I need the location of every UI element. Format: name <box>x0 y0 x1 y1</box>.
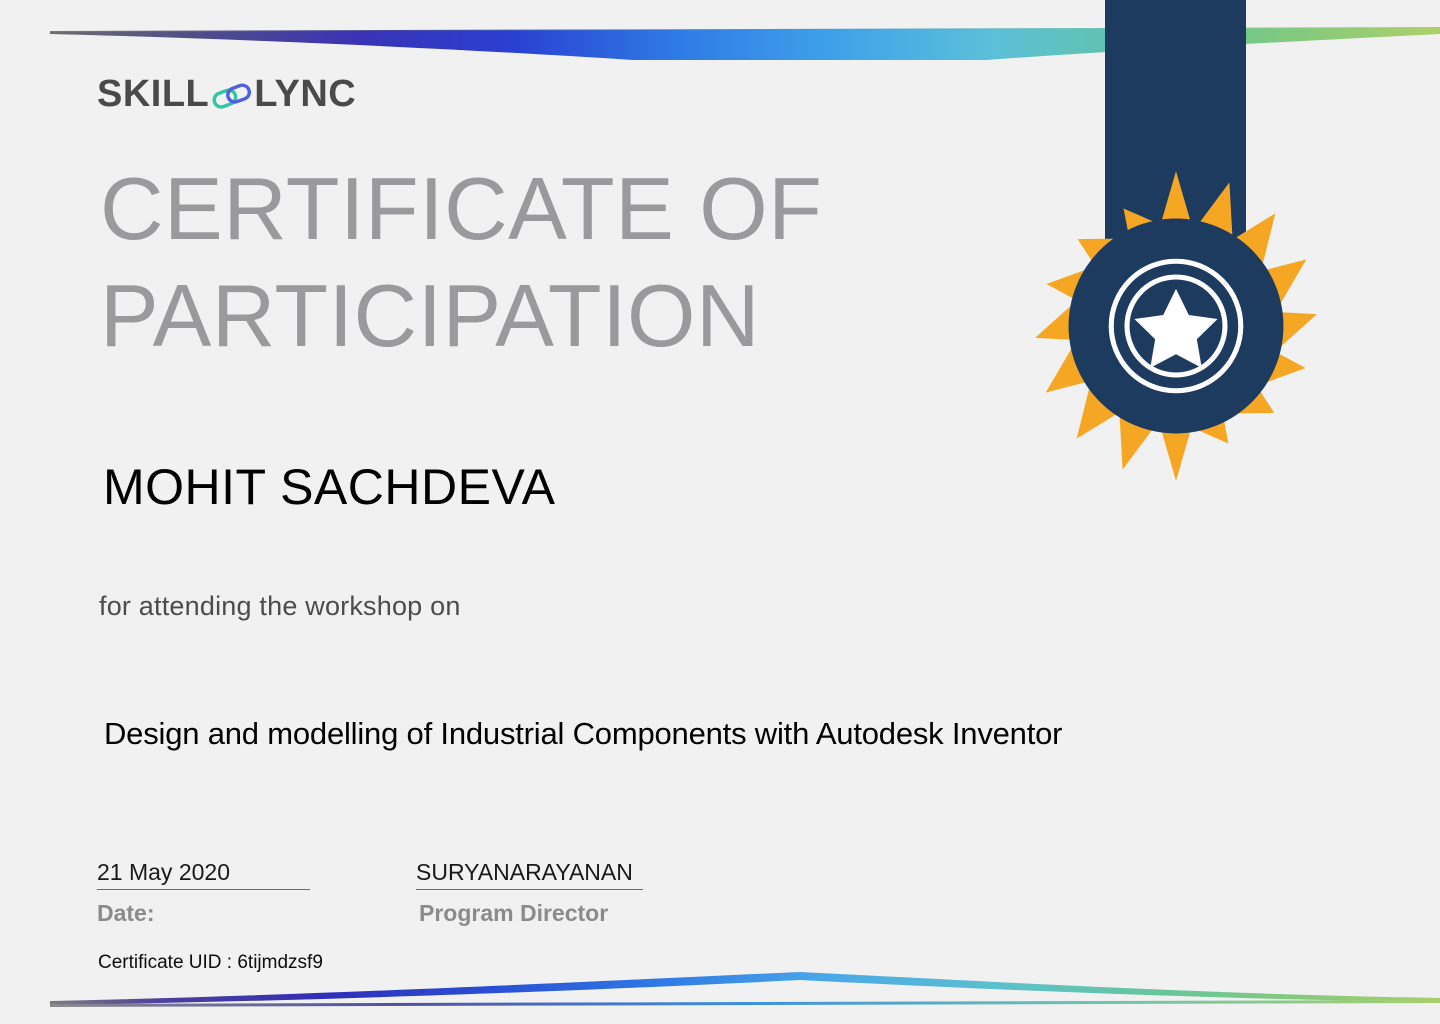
attendance-statement: for attending the workshop on <box>99 591 461 622</box>
recipient-name: MOHIT SACHDEVA <box>103 458 555 516</box>
brand-name-skill: SKILL <box>97 75 209 113</box>
director-rule <box>416 889 643 890</box>
signature-column-director: SURYANARAYANAN Program Director <box>416 858 646 927</box>
director-label: Program Director <box>419 900 646 927</box>
page-title-line-1: CERTIFICATE OF <box>100 155 800 262</box>
brand-name-lync: LYNC <box>254 75 356 113</box>
course-title: Design and modelling of Industrial Compo… <box>104 716 1062 752</box>
brand-logo: SKILL LYNC <box>97 73 356 115</box>
certificate-uid: Certificate UID : 6tijmdzsf9 <box>98 952 323 974</box>
director-name: SURYANARAYANAN <box>416 858 646 889</box>
date-rule <box>97 889 310 890</box>
certificate-page: SKILL LYNC CERTIFICATE OF PARTICIPATION … <box>0 0 1440 1024</box>
date-label: Date: <box>97 900 310 927</box>
date-value: 21 May 2020 <box>97 858 310 889</box>
page-title: CERTIFICATE OF PARTICIPATION <box>100 155 800 370</box>
award-medal-icon <box>1018 168 1334 484</box>
chain-links-icon <box>211 81 253 111</box>
page-title-line-2: PARTICIPATION <box>100 262 800 369</box>
signature-column-date: 21 May 2020 Date: <box>97 858 310 927</box>
signature-block: 21 May 2020 Date: SURYANARAYANAN Program… <box>97 858 797 938</box>
